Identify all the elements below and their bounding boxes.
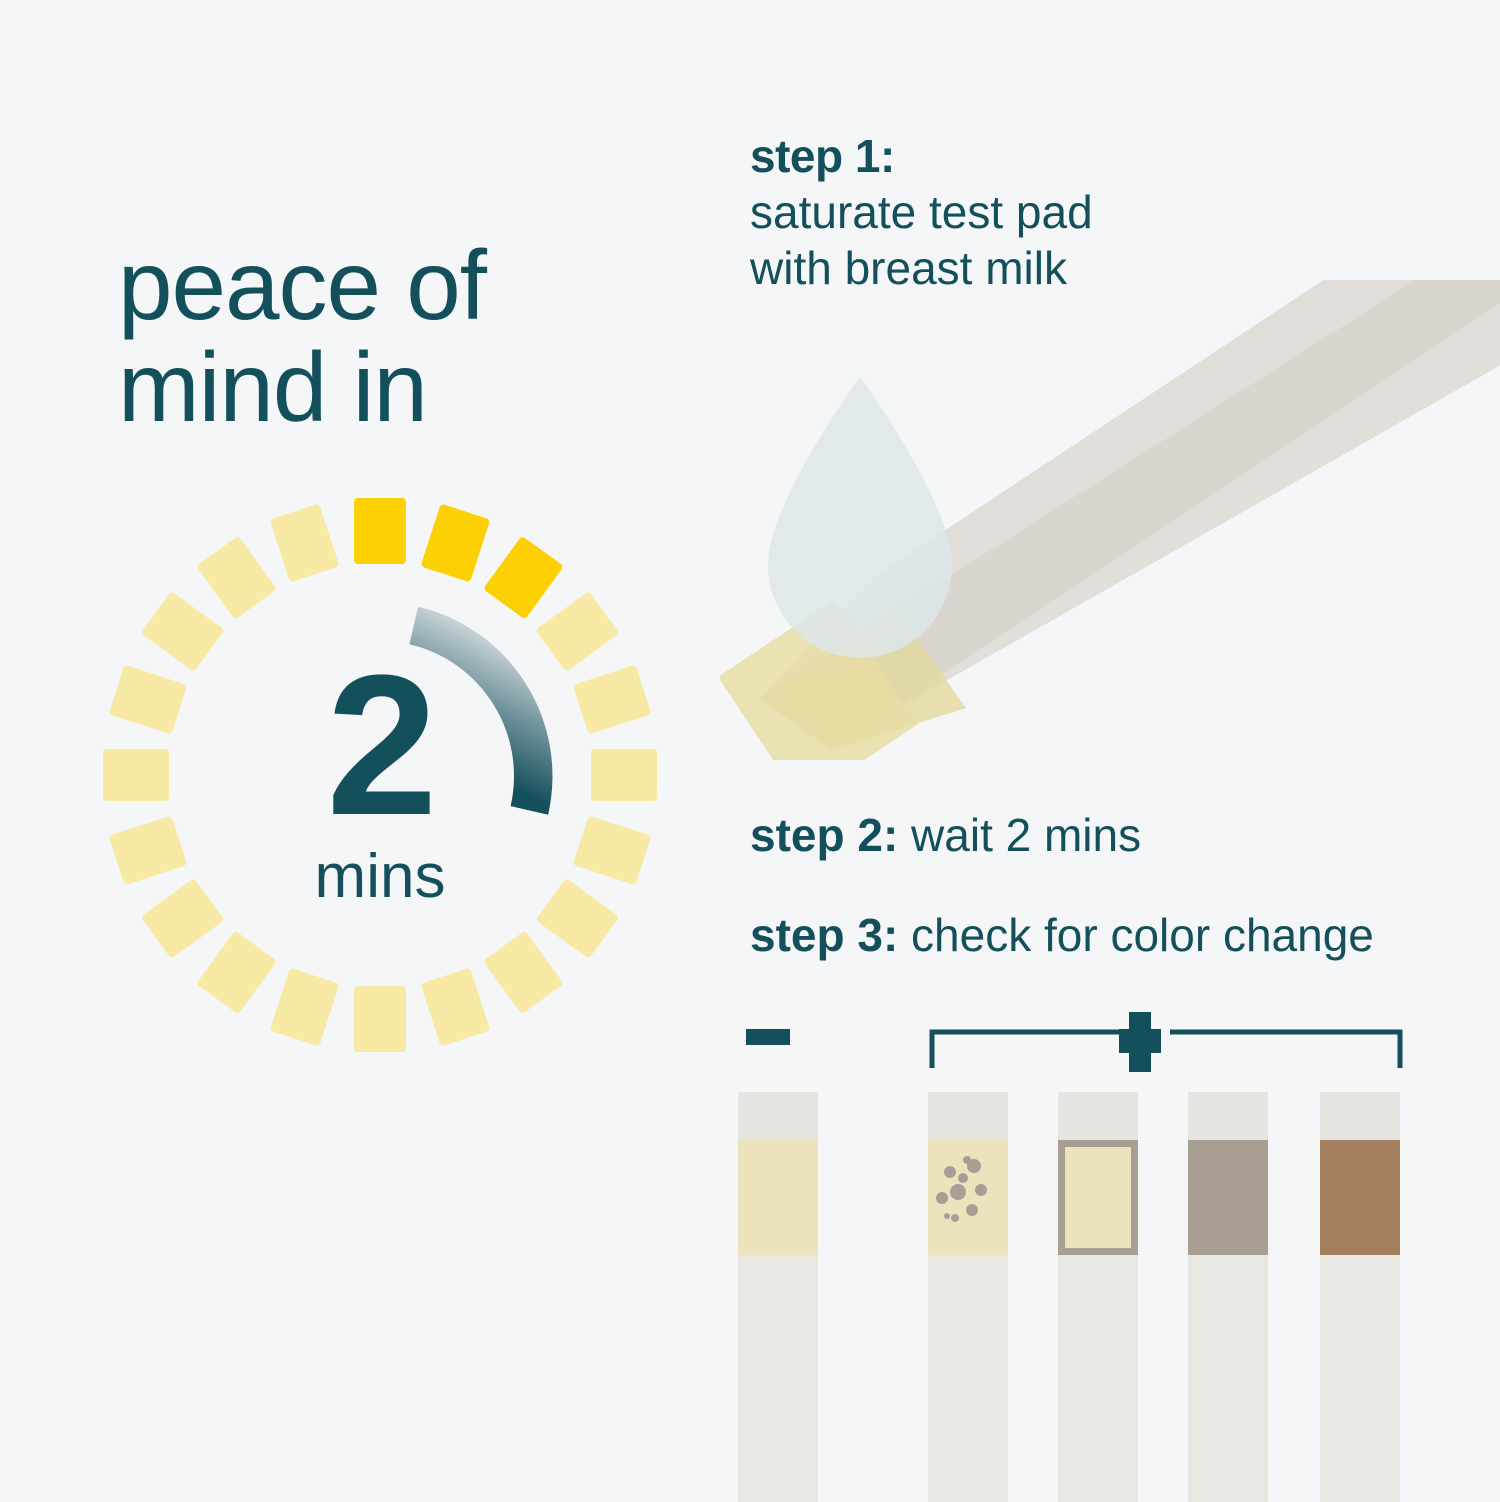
strip-handle-top [738,1092,818,1140]
pad-speck-5 [936,1192,948,1204]
step-1-label: step 1: [750,128,1470,184]
page-title: peace of mind in [118,232,678,442]
strip-body [1320,1255,1400,1502]
strip-handle-top [928,1092,1008,1140]
test-strip-row [720,1092,1500,1502]
timer-dial: 2 mins [75,470,685,1080]
timer-unit-label: mins [315,846,446,908]
strip-body [738,1255,818,1502]
step-2-text: wait 2 mins [911,809,1141,861]
headline-line-1: peace of [118,232,678,340]
strip-positive-outlined [1058,1092,1138,1502]
strip-body [1188,1255,1268,1502]
strip-pad-inner [1065,1147,1131,1248]
step-1-text-line-1: saturate test pad [750,184,1470,240]
step-1-illustration [720,280,1500,760]
strip-pad [738,1140,818,1255]
infographic-canvas: peace of mind in 2 mins [0,0,1500,1500]
pad-speck-8 [963,1156,971,1164]
pad-speck-9 [944,1213,950,1219]
strip-pad [1188,1140,1268,1255]
pad-speck-3 [950,1184,966,1200]
pad-speck-2 [958,1173,968,1183]
strip-handle-top [1320,1092,1400,1140]
step-2-instruction: step 2: wait 2 mins [750,808,1141,862]
timer-value: 2 [326,660,433,832]
step-3-instruction: step 3: check for color change [750,908,1374,962]
pad-speck-1 [944,1166,956,1178]
positive-range-bracket [932,1032,1400,1068]
strip-body [1058,1255,1138,1502]
plus-icon [1119,1012,1161,1072]
timer-readout: 2 mins [75,470,685,1080]
strip-pad [1320,1140,1400,1255]
step-1-instruction: step 1: saturate test pad with breast mi… [750,128,1470,296]
strip-positive-speckled [928,1092,1008,1502]
minus-icon [746,1029,790,1045]
strip-pad [1058,1140,1138,1255]
right-panel: step 1: saturate test pad with breast mi… [720,0,1500,1500]
strip-handle-top [1188,1092,1268,1140]
pad-speck-4 [975,1184,987,1196]
strip-pad [928,1140,1008,1255]
milk-droplet [768,377,952,658]
step-3-label: step 3: [750,909,898,961]
result-legend [720,1000,1500,1080]
step-2-label: step 2: [750,809,898,861]
headline-line-2: mind in [118,334,678,442]
strip-positive-brown [1320,1092,1400,1502]
strip-body [928,1255,1008,1502]
pad-speck-7 [951,1214,959,1222]
strip-negative [738,1092,818,1502]
strip-positive-taupe [1188,1092,1268,1502]
pad-speck-6 [966,1204,978,1216]
strip-handle-top [1058,1092,1138,1140]
left-panel: peace of mind in 2 mins [0,0,720,1500]
step-3-text: check for color change [911,909,1374,961]
